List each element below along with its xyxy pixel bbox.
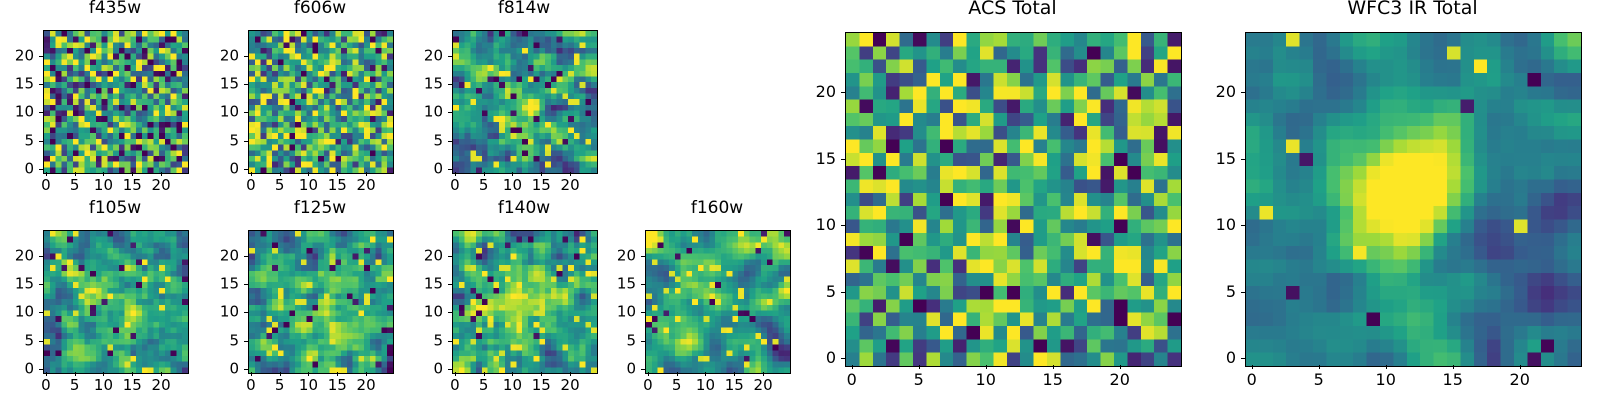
xtick-label-f140w-0: 0	[450, 378, 460, 393]
ytick-f435w-10	[39, 112, 43, 113]
ytick-f140w-15	[448, 284, 452, 285]
ytick-f125w-5	[244, 341, 248, 342]
xtick-label-f125w-15: 15	[328, 378, 347, 393]
xtick-label-f606w-15: 15	[328, 178, 347, 193]
xtick-label-f814w-20: 20	[561, 178, 580, 193]
xtick-label-f105w-20: 20	[152, 378, 171, 393]
xtick-label-f606w-5: 5	[275, 178, 285, 193]
ytick-label-wfc3-ir-total-5: 5	[1185, 284, 1236, 300]
ytick-f814w-10	[448, 112, 452, 113]
heatmap-image-acs-total	[846, 33, 1181, 366]
ytick-label-f435w-15: 15	[0, 76, 34, 91]
ytick-label-f140w-20: 20	[392, 248, 443, 263]
ytick-label-f160w-15: 15	[585, 276, 636, 291]
xtick-label-f105w-10: 10	[94, 378, 113, 393]
figure-canvas: f435w0510152005101520f606w05101520051015…	[0, 0, 1600, 400]
ytick-label-f814w-15: 15	[392, 76, 443, 91]
ytick-f140w-20	[448, 256, 452, 257]
ytick-f105w-5	[39, 341, 43, 342]
ytick-label-wfc3-ir-total-10: 10	[1185, 217, 1236, 233]
ytick-label-f140w-10: 10	[392, 305, 443, 320]
ytick-label-f105w-0: 0	[0, 362, 34, 377]
ytick-label-f125w-20: 20	[188, 248, 239, 263]
ytick-f125w-15	[244, 284, 248, 285]
ytick-f140w-5	[448, 341, 452, 342]
ytick-wfc3-ir-total-20	[1241, 92, 1245, 93]
ytick-label-f606w-0: 0	[188, 162, 239, 177]
ytick-f140w-0	[448, 369, 452, 370]
panel-title-wfc3-ir-total: WFC3 IR Total	[1185, 0, 1600, 18]
ytick-f140w-10	[448, 312, 452, 313]
ytick-label-f125w-5: 5	[188, 333, 239, 348]
heatmap-image-f435w	[44, 31, 188, 173]
xtick-label-f435w-15: 15	[123, 178, 142, 193]
ytick-f160w-10	[641, 312, 645, 313]
ytick-f435w-20	[39, 56, 43, 57]
xtick-label-f125w-0: 0	[246, 378, 256, 393]
ytick-label-acs-total-0: 0	[785, 350, 836, 366]
ytick-label-f105w-10: 10	[0, 305, 34, 320]
ytick-wfc3-ir-total-15	[1241, 159, 1245, 160]
ytick-wfc3-ir-total-5	[1241, 292, 1245, 293]
ytick-label-f105w-20: 20	[0, 248, 34, 263]
xtick-acs-total-0	[852, 365, 853, 369]
ytick-wfc3-ir-total-0	[1241, 358, 1245, 359]
xtick-wfc3-ir-total-0	[1252, 365, 1253, 369]
xtick-label-f140w-15: 15	[532, 378, 551, 393]
heatmap-f105w	[43, 230, 189, 374]
ytick-f160w-0	[641, 369, 645, 370]
ytick-f606w-20	[244, 56, 248, 57]
xtick-label-f435w-20: 20	[152, 178, 171, 193]
ytick-label-f435w-20: 20	[0, 48, 34, 63]
xtick-label-f814w-10: 10	[503, 178, 522, 193]
xtick-label-f606w-20: 20	[357, 178, 376, 193]
ytick-label-f814w-0: 0	[392, 162, 443, 177]
ytick-label-f435w-5: 5	[0, 133, 34, 148]
xtick-label-f125w-5: 5	[275, 378, 285, 393]
heatmap-f606w	[248, 30, 394, 174]
ytick-label-f606w-10: 10	[188, 105, 239, 120]
ytick-acs-total-10	[841, 225, 845, 226]
xtick-acs-total-5	[919, 365, 920, 369]
ytick-label-f814w-5: 5	[392, 133, 443, 148]
xtick-label-f606w-0: 0	[246, 178, 256, 193]
xtick-label-wfc3-ir-total-15: 15	[1443, 372, 1463, 388]
heatmap-f125w	[248, 230, 394, 374]
ytick-label-f435w-10: 10	[0, 105, 34, 120]
ytick-f435w-0	[39, 169, 43, 170]
ytick-label-acs-total-5: 5	[785, 284, 836, 300]
xtick-label-f160w-0: 0	[643, 378, 653, 393]
heatmap-image-f814w	[453, 31, 597, 173]
panel-wfc3-ir-total: WFC3 IR Total0510152005101520	[1185, 0, 1600, 402]
ytick-f606w-15	[244, 84, 248, 85]
heatmap-f814w	[452, 30, 598, 174]
ytick-f105w-10	[39, 312, 43, 313]
ytick-f125w-20	[244, 256, 248, 257]
ytick-f105w-15	[39, 284, 43, 285]
xtick-acs-total-10	[986, 365, 987, 369]
xtick-label-f435w-5: 5	[70, 178, 80, 193]
xtick-label-wfc3-ir-total-0: 0	[1247, 372, 1257, 388]
panel-f814w: f814w0510152005101520	[392, 0, 656, 212]
ytick-label-wfc3-ir-total-15: 15	[1185, 151, 1236, 167]
heatmap-image-f606w	[249, 31, 393, 173]
ytick-label-f606w-15: 15	[188, 76, 239, 91]
xtick-label-wfc3-ir-total-20: 20	[1510, 372, 1530, 388]
heatmap-image-wfc3-ir-total	[1246, 33, 1581, 366]
ytick-label-f140w-5: 5	[392, 333, 443, 348]
ytick-label-f160w-20: 20	[585, 248, 636, 263]
xtick-label-acs-total-15: 15	[1043, 372, 1063, 388]
ytick-label-f435w-0: 0	[0, 162, 34, 177]
ytick-label-f814w-20: 20	[392, 48, 443, 63]
ytick-label-f105w-15: 15	[0, 276, 34, 291]
ytick-acs-total-20	[841, 92, 845, 93]
xtick-label-wfc3-ir-total-10: 10	[1376, 372, 1396, 388]
ytick-label-acs-total-15: 15	[785, 151, 836, 167]
ytick-f606w-10	[244, 112, 248, 113]
xtick-wfc3-ir-total-5	[1319, 365, 1320, 369]
ytick-f606w-0	[244, 169, 248, 170]
xtick-label-f125w-20: 20	[357, 378, 376, 393]
xtick-label-f105w-0: 0	[41, 378, 51, 393]
xtick-label-f435w-0: 0	[41, 178, 51, 193]
ytick-f160w-15	[641, 284, 645, 285]
xtick-label-acs-total-10: 10	[976, 372, 996, 388]
ytick-label-acs-total-20: 20	[785, 84, 836, 100]
ytick-label-wfc3-ir-total-20: 20	[1185, 84, 1236, 100]
ytick-f814w-0	[448, 169, 452, 170]
panel-title-acs-total: ACS Total	[785, 0, 1240, 18]
xtick-label-f160w-10: 10	[696, 378, 715, 393]
ytick-label-f160w-5: 5	[585, 333, 636, 348]
ytick-label-wfc3-ir-total-0: 0	[1185, 350, 1236, 366]
ytick-label-f125w-10: 10	[188, 305, 239, 320]
ytick-label-f140w-15: 15	[392, 276, 443, 291]
xtick-label-f105w-5: 5	[70, 378, 80, 393]
heatmap-acs-total	[845, 32, 1182, 367]
ytick-f606w-5	[244, 141, 248, 142]
xtick-label-f140w-5: 5	[479, 378, 489, 393]
ytick-label-f125w-15: 15	[188, 276, 239, 291]
xtick-label-f814w-0: 0	[450, 178, 460, 193]
ytick-f814w-5	[448, 141, 452, 142]
ytick-label-f814w-10: 10	[392, 105, 443, 120]
xtick-label-f814w-5: 5	[479, 178, 489, 193]
ytick-f435w-15	[39, 84, 43, 85]
ytick-label-f140w-0: 0	[392, 362, 443, 377]
xtick-acs-total-15	[1053, 365, 1054, 369]
xtick-label-f105w-15: 15	[123, 378, 142, 393]
ytick-label-f160w-10: 10	[585, 305, 636, 320]
ytick-label-f160w-0: 0	[585, 362, 636, 377]
ytick-acs-total-5	[841, 292, 845, 293]
ytick-f160w-20	[641, 256, 645, 257]
xtick-label-f160w-20: 20	[754, 378, 773, 393]
ytick-wfc3-ir-total-10	[1241, 225, 1245, 226]
xtick-label-f160w-5: 5	[672, 378, 682, 393]
ytick-f814w-20	[448, 56, 452, 57]
ytick-f125w-10	[244, 312, 248, 313]
heatmap-f140w	[452, 230, 598, 374]
xtick-wfc3-ir-total-20	[1520, 365, 1521, 369]
heatmap-image-f160w	[646, 231, 790, 373]
xtick-label-f435w-10: 10	[94, 178, 113, 193]
xtick-wfc3-ir-total-10	[1386, 365, 1387, 369]
xtick-label-f125w-10: 10	[299, 378, 318, 393]
xtick-label-acs-total-0: 0	[847, 372, 857, 388]
ytick-f125w-0	[244, 369, 248, 370]
xtick-label-f140w-10: 10	[503, 378, 522, 393]
xtick-acs-total-20	[1120, 365, 1121, 369]
ytick-f160w-5	[641, 341, 645, 342]
ytick-label-f125w-0: 0	[188, 362, 239, 377]
ytick-acs-total-0	[841, 358, 845, 359]
xtick-label-acs-total-5: 5	[914, 372, 924, 388]
ytick-f435w-5	[39, 141, 43, 142]
ytick-label-f606w-5: 5	[188, 133, 239, 148]
xtick-label-acs-total-20: 20	[1110, 372, 1130, 388]
panel-title-f814w: f814w	[392, 0, 656, 17]
ytick-label-f606w-20: 20	[188, 48, 239, 63]
xtick-label-wfc3-ir-total-5: 5	[1314, 372, 1324, 388]
ytick-f105w-20	[39, 256, 43, 257]
ytick-f105w-0	[39, 369, 43, 370]
xtick-label-f140w-20: 20	[561, 378, 580, 393]
heatmap-f160w	[645, 230, 791, 374]
heatmap-wfc3-ir-total	[1245, 32, 1582, 367]
heatmap-f435w	[43, 30, 189, 174]
ytick-f814w-15	[448, 84, 452, 85]
xtick-label-f814w-15: 15	[532, 178, 551, 193]
panel-acs-total: ACS Total0510152005101520	[785, 0, 1240, 402]
xtick-label-f606w-10: 10	[299, 178, 318, 193]
heatmap-image-f125w	[249, 231, 393, 373]
xtick-label-f160w-15: 15	[725, 378, 744, 393]
ytick-label-acs-total-10: 10	[785, 217, 836, 233]
ytick-acs-total-15	[841, 159, 845, 160]
heatmap-image-f140w	[453, 231, 597, 373]
ytick-label-f105w-5: 5	[0, 333, 34, 348]
heatmap-image-f105w	[44, 231, 188, 373]
xtick-wfc3-ir-total-15	[1453, 365, 1454, 369]
